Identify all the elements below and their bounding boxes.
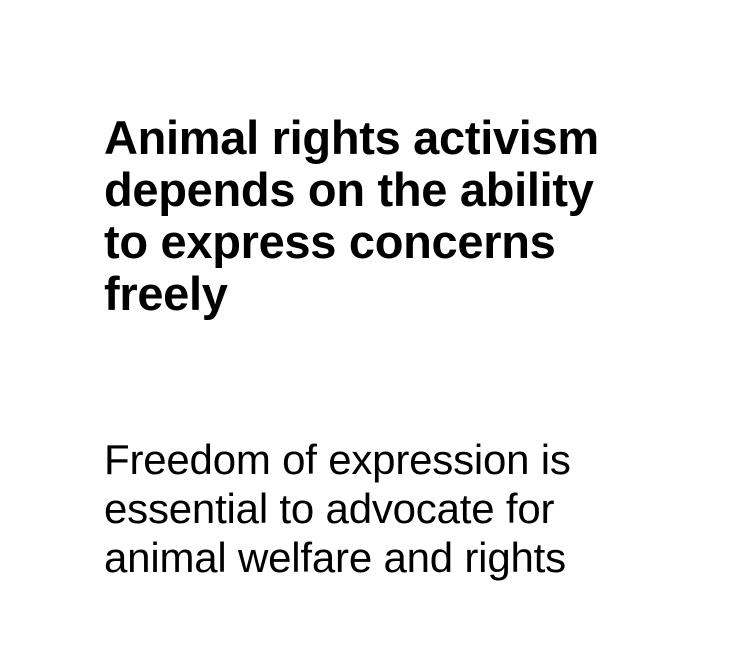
subhead-text: Freedom of expression is essential to ad… [104, 435, 636, 582]
headline-subhead-spacer [104, 320, 636, 435]
headline-text: Animal rights activism depends on the ab… [104, 112, 636, 320]
text-content-block: Animal rights activism depends on the ab… [104, 112, 636, 582]
slide-canvas: Animal rights activism depends on the ab… [0, 0, 750, 650]
